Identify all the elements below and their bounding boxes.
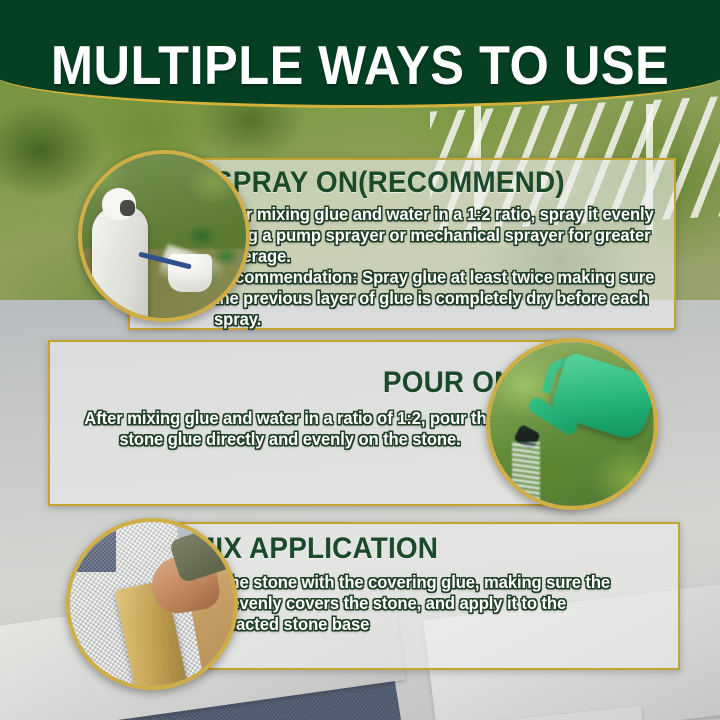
section-body-spray-on: After mixing glue and water in a 1:2 rat… — [214, 204, 661, 330]
hand-trowel-gravel-photo — [66, 518, 238, 690]
product-infographic-poster: MULTIPLE WAYS TO USE SPRAY ON(RECOMMEND)… — [0, 0, 720, 720]
section-body-mix-application: Mix the stone with the covering glue, ma… — [192, 572, 620, 635]
page-title: MULTIPLE WAYS TO USE — [51, 38, 669, 93]
section-heading-spray-on: SPRAY ON(RECOMMEND) — [214, 168, 565, 199]
photo-highlight — [490, 342, 654, 506]
worker-spraying-glue-photo — [78, 150, 250, 322]
header-banner: MULTIPLE WAYS TO USE — [0, 0, 720, 108]
photo-highlight — [70, 522, 234, 686]
green-watering-can-photo — [486, 338, 658, 510]
section-body-pour-on: After mixing glue and water in a ratio o… — [62, 408, 518, 450]
photo-highlight — [82, 154, 246, 318]
